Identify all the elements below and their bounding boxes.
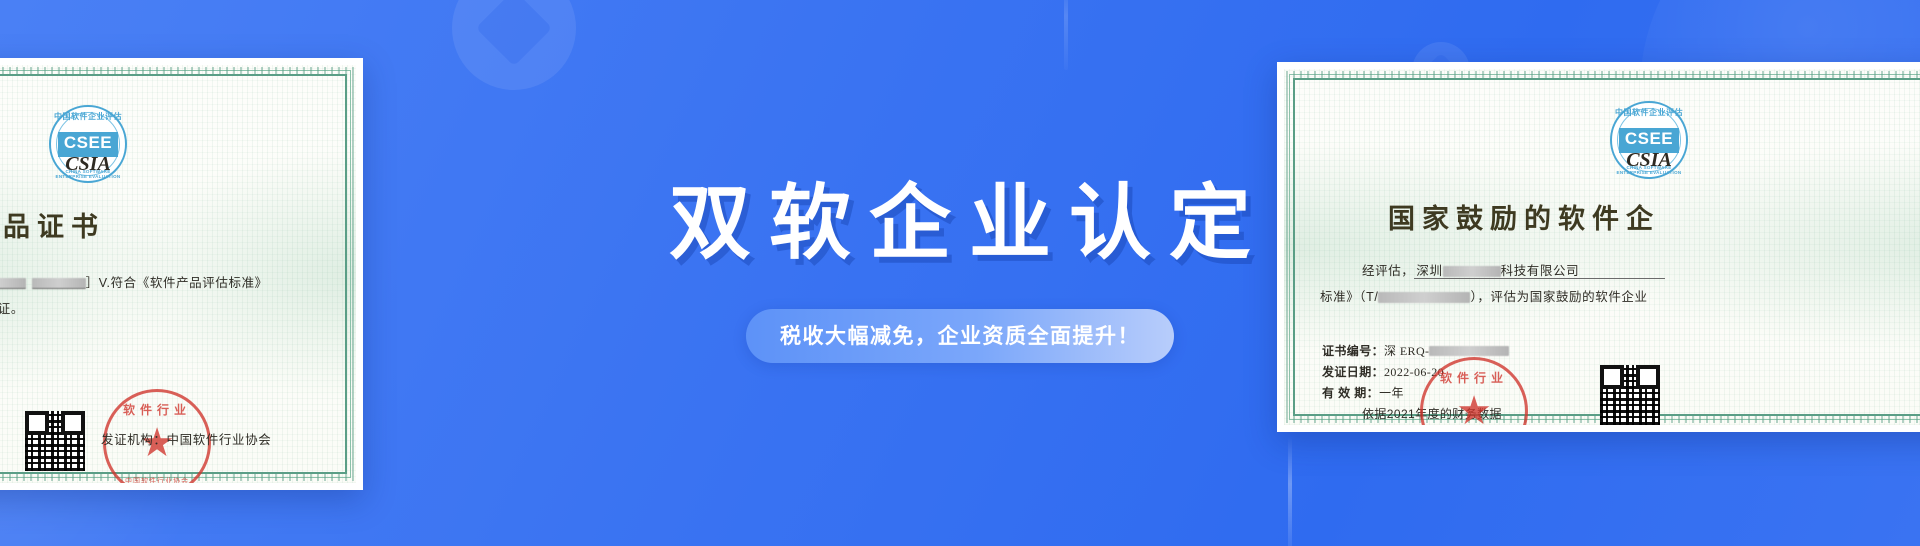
promo-banner: 中国软件企业评估 CSEE CSIA CHINA SOFTWARE ENTERP…	[0, 0, 1920, 546]
banner-copy: 双软企业认定 税收大幅减免，企业资质全面提升！	[0, 0, 1920, 546]
subtitle-badge: 税收大幅减免，企业资质全面提升！	[746, 309, 1174, 363]
page-title: 双软企业认定	[651, 183, 1269, 265]
